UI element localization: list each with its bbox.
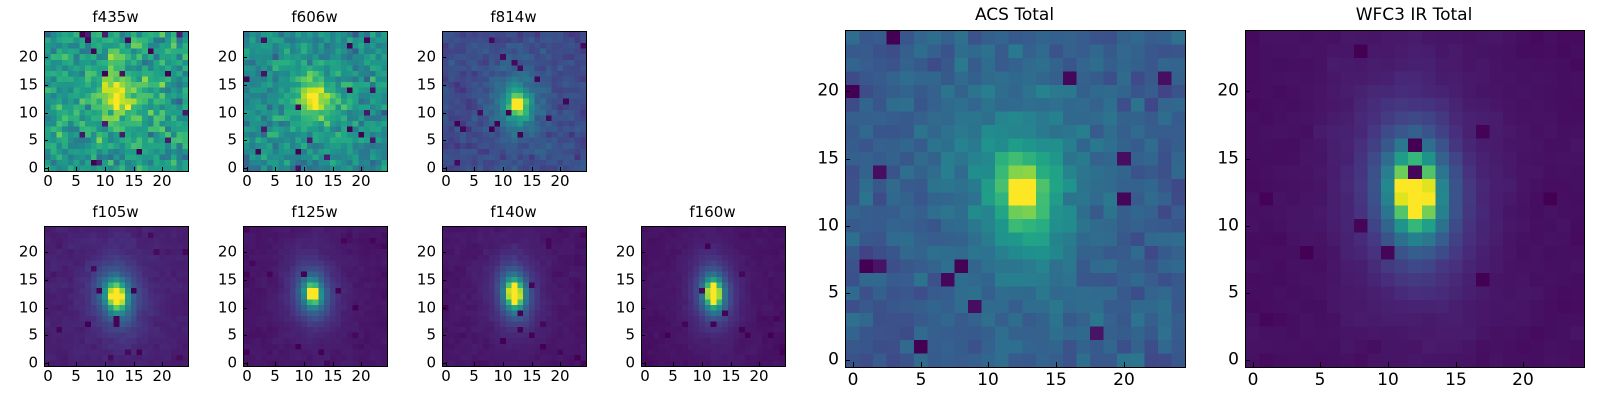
xtick-wfc3-ir-total-0 (1253, 362, 1254, 367)
panel-title-wfc3-ir-total: WFC3 IR Total (1245, 7, 1583, 24)
xtick-wfc3-ir-total-3 (1456, 362, 1457, 367)
xtick-wfc3-ir-total-4 (1523, 362, 1524, 367)
ytick-label-wfc3-ir-total-3: 15 (1209, 151, 1239, 168)
heatmap-image-wfc3-ir-total (1246, 31, 1584, 367)
ytick-label-wfc3-ir-total-0: 0 (1209, 352, 1239, 369)
ytick-wfc3-ir-total-3 (1245, 159, 1250, 160)
ytick-label-wfc3-ir-total-2: 10 (1209, 218, 1239, 235)
ytick-label-wfc3-ir-total-1: 5 (1209, 285, 1239, 302)
xtick-label-wfc3-ir-total-1: 5 (1315, 372, 1326, 389)
heatmap-wfc3-ir-total (1245, 30, 1585, 368)
ytick-label-wfc3-ir-total-4: 20 (1209, 83, 1239, 100)
xtick-label-wfc3-ir-total-2: 10 (1377, 372, 1399, 389)
xtick-label-wfc3-ir-total-3: 15 (1445, 372, 1467, 389)
ytick-wfc3-ir-total-4 (1245, 91, 1250, 92)
ytick-wfc3-ir-total-0 (1245, 360, 1250, 361)
figure-canvas: f435w0510152005101520f606w05101520051015… (0, 0, 1600, 400)
xtick-label-wfc3-ir-total-0: 0 (1248, 372, 1259, 389)
ytick-wfc3-ir-total-2 (1245, 226, 1250, 227)
xtick-wfc3-ir-total-1 (1320, 362, 1321, 367)
xtick-wfc3-ir-total-2 (1388, 362, 1389, 367)
xtick-label-wfc3-ir-total-4: 20 (1512, 372, 1534, 389)
ytick-wfc3-ir-total-1 (1245, 293, 1250, 294)
panel-wfc3-ir-total: WFC3 IR Total0510152005101520 (0, 0, 1600, 400)
